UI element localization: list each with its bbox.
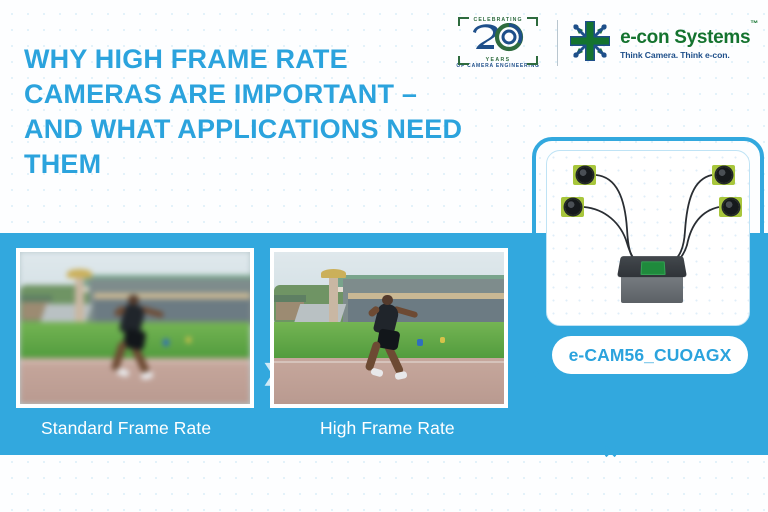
page-title: WHY HIGH FRAME RATE CAMERAS ARE IMPORTAN… bbox=[24, 42, 464, 182]
company-name-text: e-con Systems bbox=[620, 27, 750, 48]
runner-scene-blurred bbox=[20, 252, 250, 404]
close-icon[interactable]: ✕ bbox=[603, 443, 618, 461]
logo-divider bbox=[557, 20, 558, 66]
company-name: e-con Systems™ bbox=[620, 27, 758, 49]
banner-root: WHY HIGH FRAME RATE CAMERAS ARE IMPORTAN… bbox=[0, 0, 768, 512]
trademark-symbol: ™ bbox=[750, 19, 758, 28]
comparison-image-high bbox=[270, 248, 508, 408]
runner-scene-sharp bbox=[274, 252, 504, 404]
pcb-icon bbox=[640, 261, 665, 275]
product-image-panel bbox=[546, 150, 750, 326]
comparison-image-standard bbox=[16, 248, 254, 408]
logo-group: CELEBRATING YEARS OF CAMERA ENGINEERING bbox=[448, 12, 758, 74]
product-name-badge: e-CAM56_CUOAGX bbox=[552, 336, 748, 374]
carrier-board-unit-icon bbox=[619, 255, 685, 303]
company-logo: e-con Systems™ Think Camera. Think e-con… bbox=[567, 18, 758, 69]
caption-standard-frame-rate: Standard Frame Rate bbox=[41, 418, 211, 439]
econ-star-logo-icon bbox=[567, 18, 613, 69]
caption-high-frame-rate: High Frame Rate bbox=[320, 418, 455, 439]
anniversary-number-icon bbox=[472, 23, 524, 57]
anniversary-badge: CELEBRATING YEARS OF CAMERA ENGINEERING bbox=[448, 13, 548, 73]
anniversary-bottom-text: OF CAMERA ENGINEERING bbox=[456, 63, 539, 69]
company-name-block: e-con Systems™ Think Camera. Think e-con… bbox=[620, 27, 758, 60]
company-tagline: Think Camera. Think e-con. bbox=[620, 50, 758, 60]
